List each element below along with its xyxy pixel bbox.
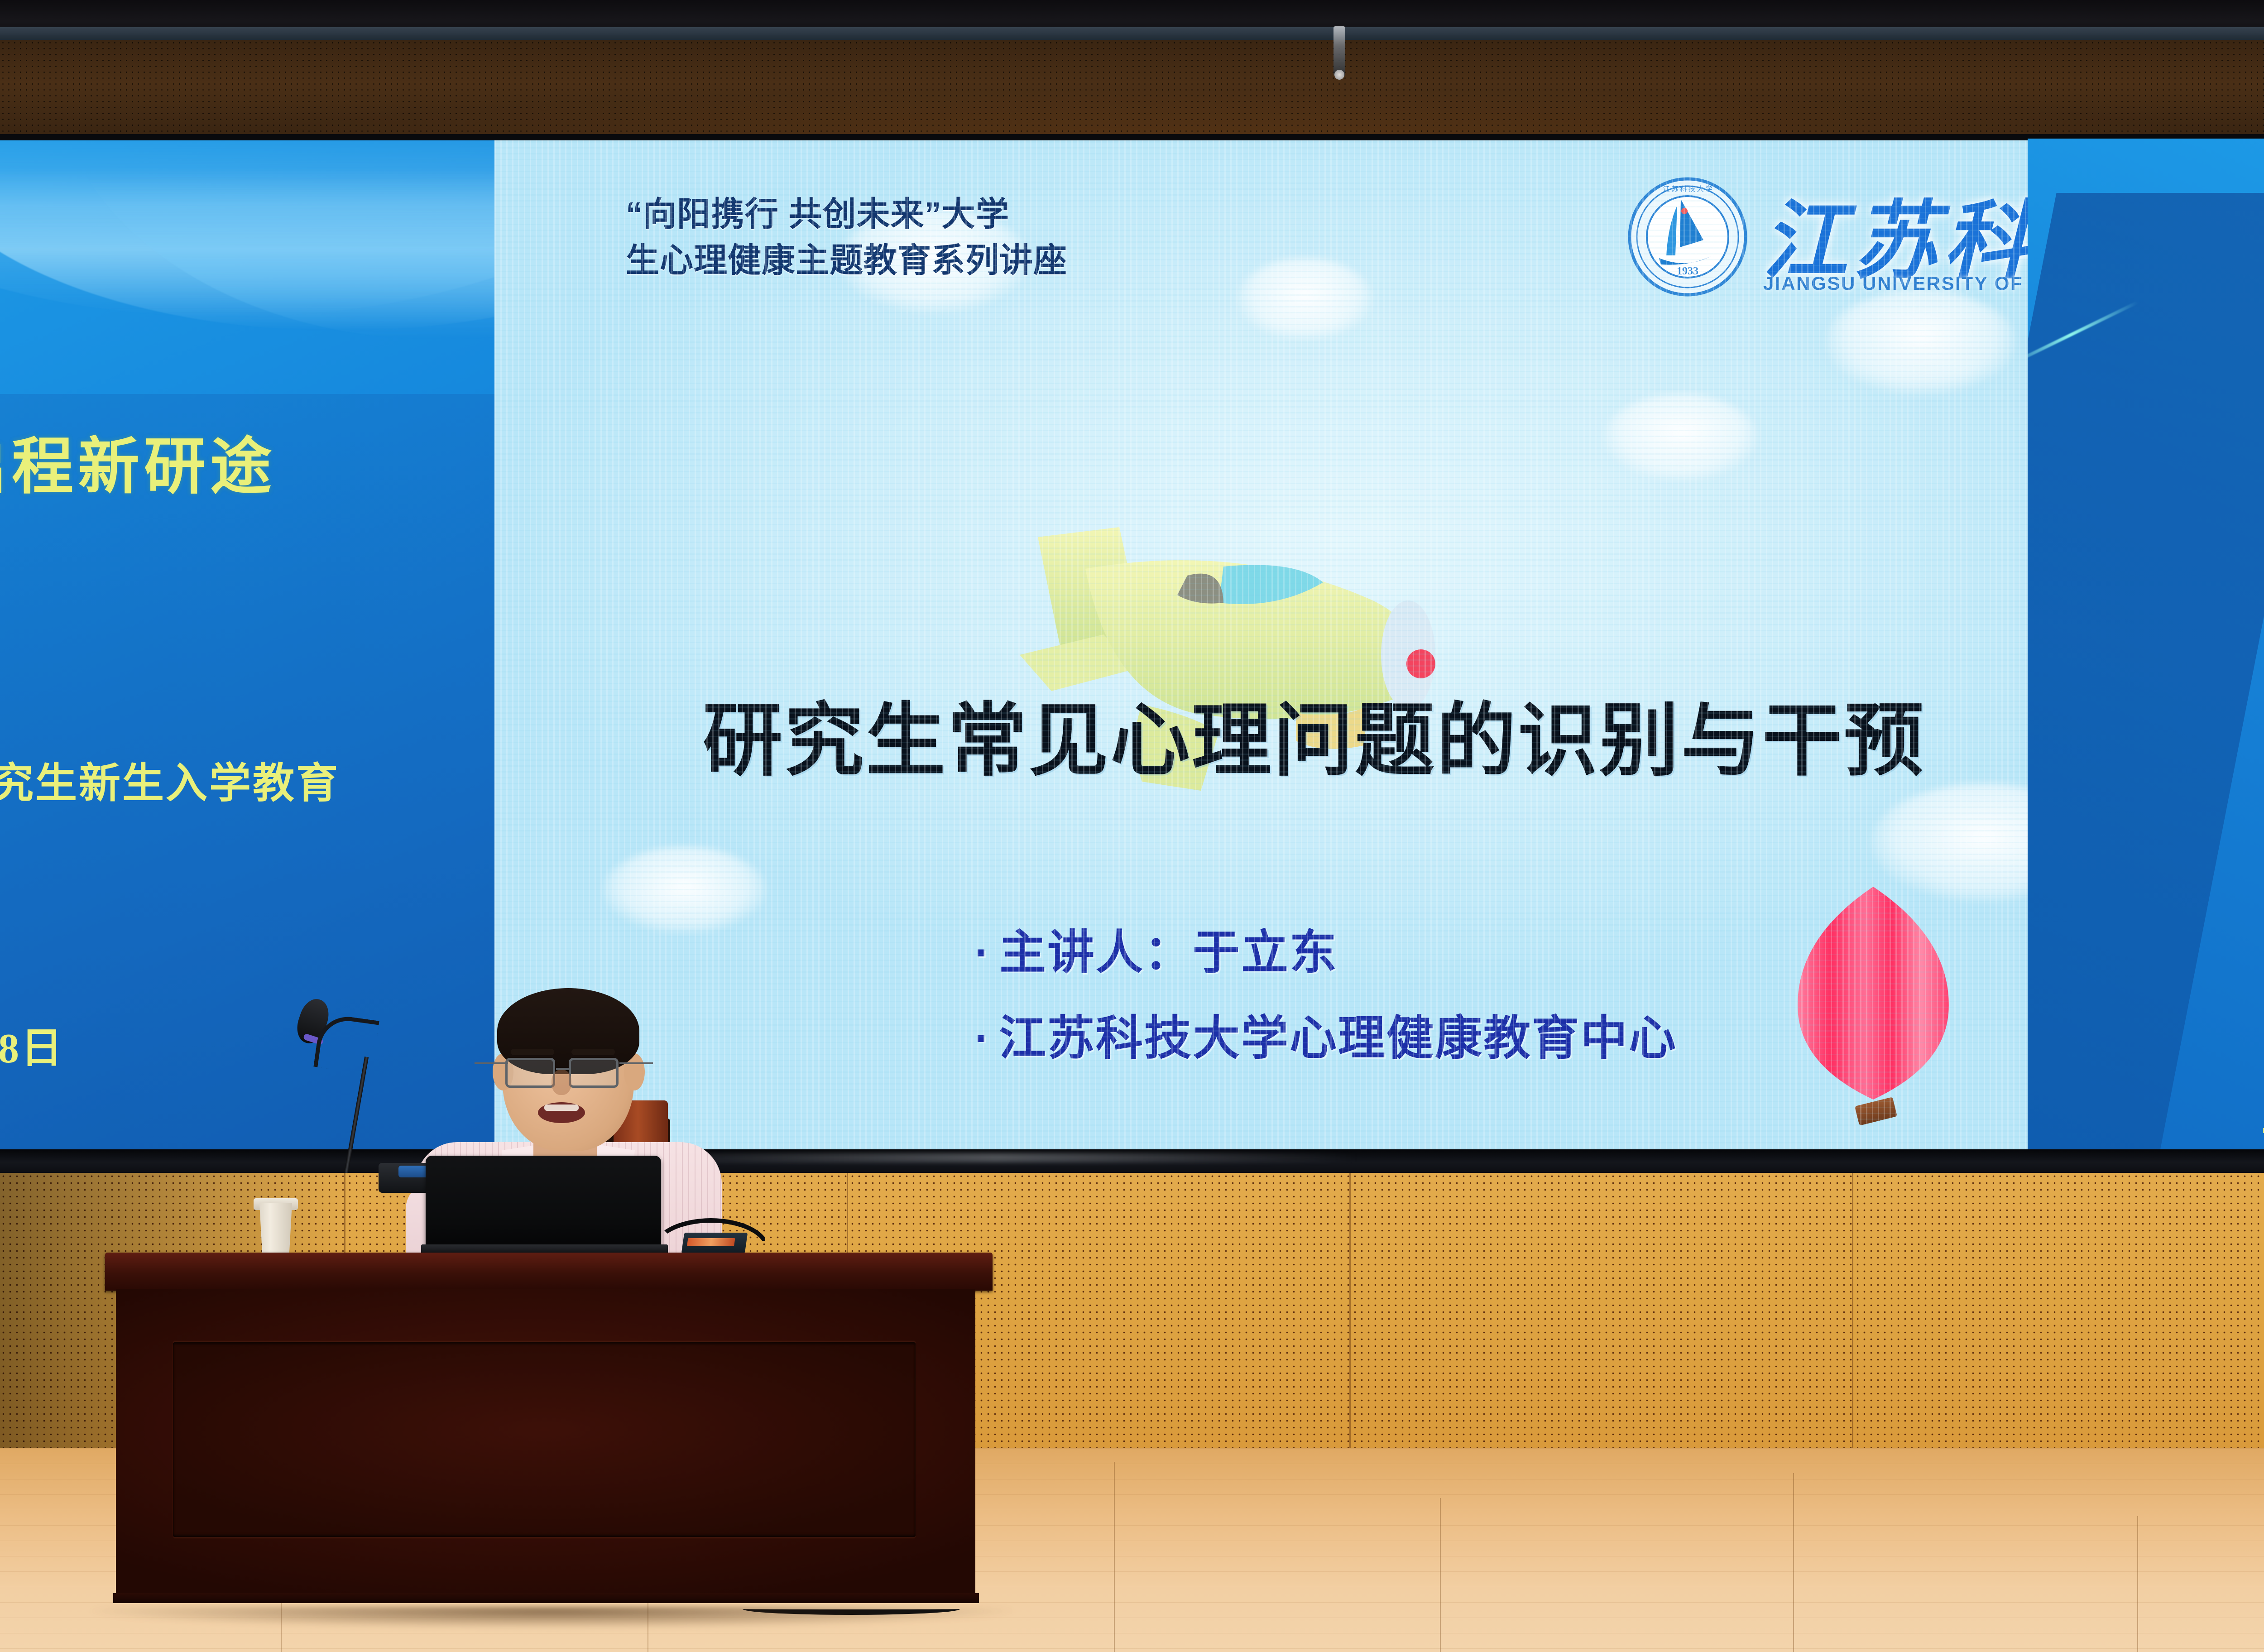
cloud-4 (1826, 290, 2016, 394)
podium-foot (113, 1593, 979, 1603)
slide-header-line-2: 生心理健康主题教育系列讲座 (626, 237, 1350, 283)
slide-title: 研究生常见心理问题的识别与干预 (639, 676, 1989, 791)
right-banner: 1933 江 苏 科 技 JIANGSU UNIVERSITY OF SCIEN… (2028, 139, 2264, 1149)
upper-acoustic-panel-wall (0, 40, 2264, 135)
paper-cup (257, 1203, 294, 1256)
left-banner-title: 启程新研途 (0, 417, 489, 506)
svg-text:江 苏 科 技 大 学: 江 苏 科 技 大 学 (1663, 185, 1712, 193)
eyebrow-left (511, 1049, 554, 1055)
speaker-mouth (538, 1102, 585, 1123)
list-item: ·主讲人：于立东 (974, 910, 1971, 996)
glasses-lens-left (505, 1058, 555, 1088)
slide-header: “向阳携行 共创未来”大学 生心理健康主题教育系列讲座 (626, 191, 1350, 283)
lecture-hall-scene: 启程新研途 年研究生新生入学教育 月8日 (0, 0, 2264, 1652)
podium-top (105, 1253, 993, 1291)
cloud-3 (1604, 394, 1758, 480)
bullet-marker: · (974, 910, 999, 996)
left-banner-subtitle: 年研究生新生入学教育 (0, 749, 494, 810)
cloud-6 (603, 847, 766, 933)
ceiling-light-strip (0, 27, 2264, 41)
university-name-english: JIANGSU UNIVERSITY OF SCIENCE AND TECHNO… (1763, 273, 2028, 294)
university-logo: 1933 江 苏 科 技 大 学 江苏科技大学 JIANGSU UNIVERSI… (1626, 176, 2028, 298)
slide-bullet-list: ·主讲人：于立东 ·江苏科技大学心理健康教育中心 (974, 910, 1971, 1082)
projection-screen: 启程新研途 年研究生新生入学教育 月8日 (0, 134, 2264, 1153)
left-banner-date: 月8日 (0, 1014, 317, 1075)
ceiling-spotlight-icon (1333, 26, 1345, 76)
eyebrow-right (571, 1049, 615, 1055)
bullet-text: 江苏科技大学心理健康教育中心 (999, 1012, 1677, 1065)
list-item: ·江苏科技大学心理健康教育中心 (974, 996, 1971, 1081)
slide-header-line-1: “向阳携行 共创未来”大学 (626, 191, 1350, 237)
glasses-temple-right (619, 1062, 653, 1064)
glasses-temple-left (475, 1062, 508, 1064)
podium (105, 1253, 993, 1613)
bullet-marker: · (974, 996, 999, 1081)
university-emblem-icon: 1933 江 苏 科 技 大 学 (1626, 176, 1749, 298)
podium-panel (173, 1342, 916, 1537)
laptop (426, 1156, 661, 1252)
bullet-text: 主讲人：于立东 (999, 927, 1338, 979)
glasses-lens-right (569, 1058, 619, 1088)
speaker-nose (552, 1070, 571, 1095)
podium-shadow (91, 1607, 1014, 1628)
svg-text:1933: 1933 (1677, 265, 1698, 277)
